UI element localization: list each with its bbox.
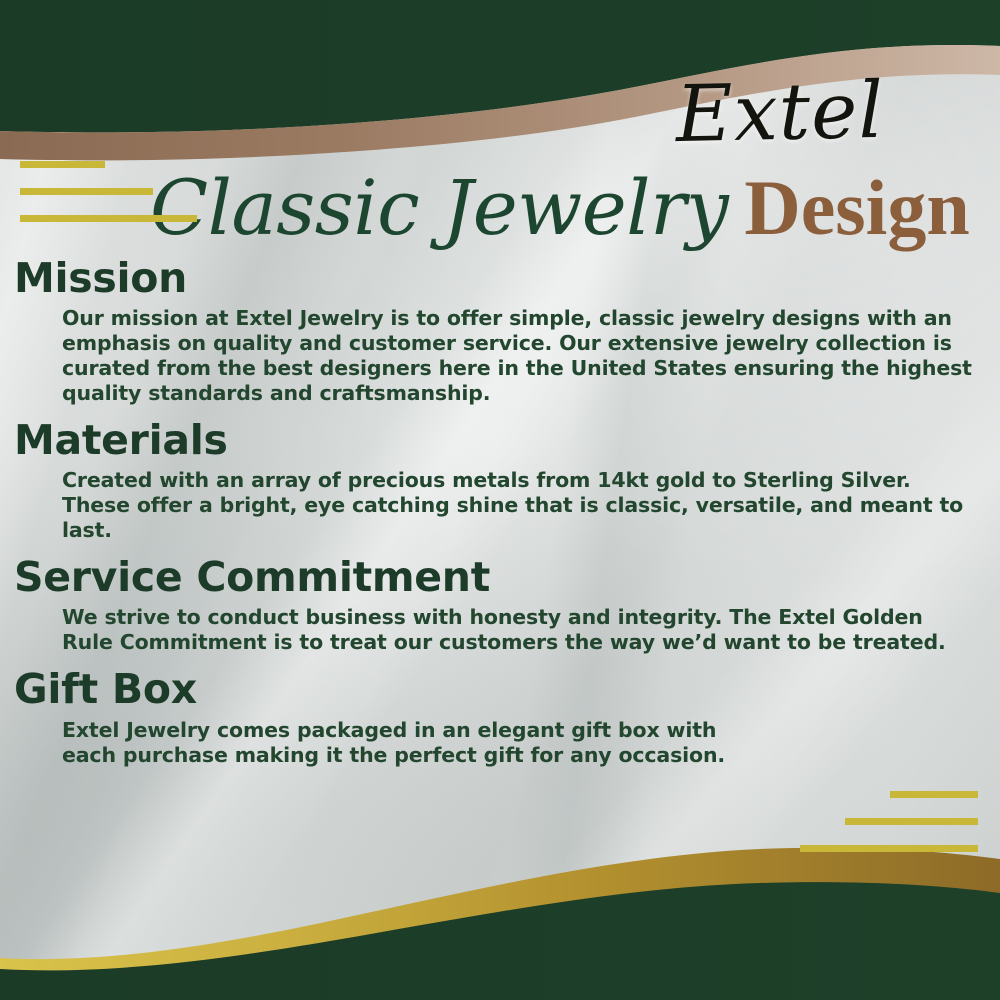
gold-line <box>20 215 197 222</box>
section-heading-materials: Materials <box>14 417 1000 464</box>
section-service-commitment: Service Commitment We strive to conduct … <box>0 554 1000 655</box>
gold-line <box>890 791 978 798</box>
gold-line <box>20 161 105 168</box>
section-heading-gift-box: Gift Box <box>14 666 1000 713</box>
headline-design: Design <box>744 164 969 251</box>
gold-line <box>845 818 978 825</box>
brand-script-logo: Extel <box>599 70 961 156</box>
section-heading-service-commitment: Service Commitment <box>14 554 1000 601</box>
section-materials: Materials Created with an array of preci… <box>0 417 1000 543</box>
section-body-mission: Our mission at Extel Jewelry is to offer… <box>62 306 972 406</box>
page-title: Classic JewelryDesign <box>150 158 980 258</box>
content-sections: Mission Our mission at Extel Jewelry is … <box>0 255 1000 779</box>
section-heading-mission: Mission <box>14 255 1000 302</box>
gold-line <box>800 845 978 852</box>
gold-accent-lines-bottom-right <box>800 791 978 852</box>
section-mission: Mission Our mission at Extel Jewelry is … <box>0 255 1000 406</box>
section-body-service-commitment: We strive to conduct business with hones… <box>62 605 972 655</box>
gold-line <box>20 188 153 195</box>
section-gift-box: Gift Box Extel Jewelry comes packaged in… <box>0 666 1000 767</box>
section-body-gift-box: Extel Jewelry comes packaged in an elega… <box>62 718 760 768</box>
poster-canvas: Extel Classic JewelryDesign Mission Our … <box>0 0 1000 1000</box>
section-body-materials: Created with an array of precious metals… <box>62 468 972 543</box>
headline-classic-jewelry: Classic Jewelry <box>150 163 728 252</box>
gold-accent-lines-top-left <box>20 161 197 222</box>
